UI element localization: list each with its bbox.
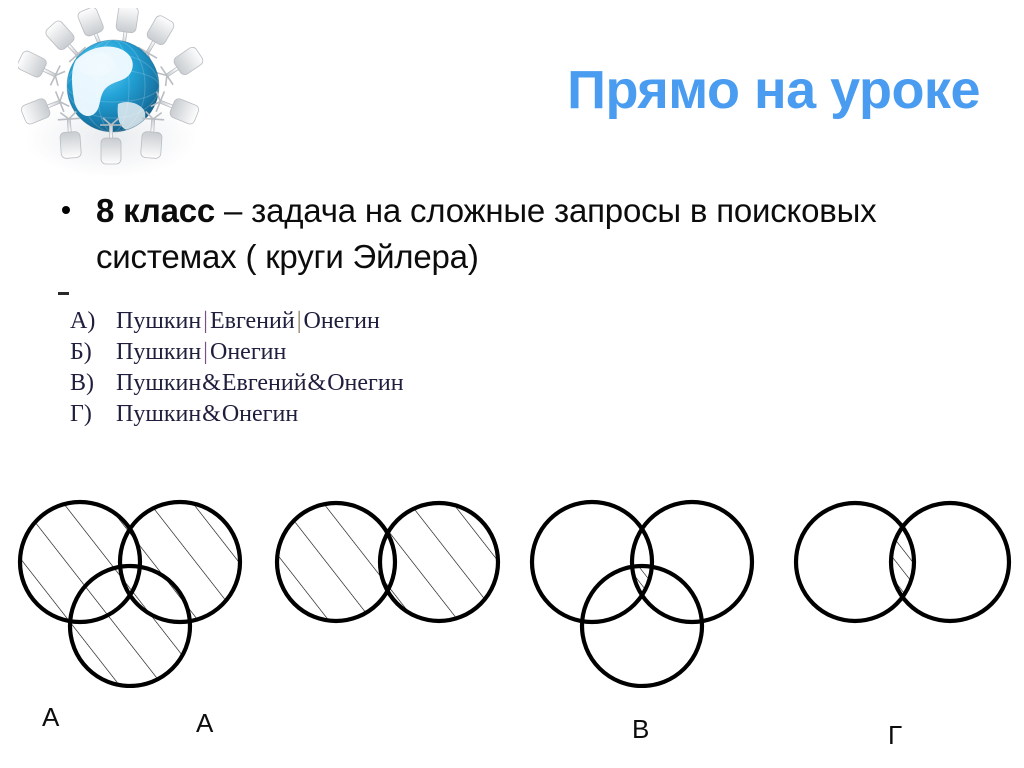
bullet-text: 8 класс – задача на сложные запросы в по… (96, 188, 956, 280)
venn-diagram-pair-intersection (772, 488, 1022, 688)
option-b-term-2: Онегин (210, 339, 286, 365)
venn-label-2: А (196, 708, 213, 739)
page-title: Прямо на уроке (420, 60, 980, 120)
bullet-strong-text: 8 класс (96, 192, 215, 229)
option-a-separator-2: | (295, 308, 304, 334)
query-options-list: А)Пушкин|Евгений|Онегин Б)Пушкин|Онегин … (70, 306, 590, 430)
venn-label-1: А (42, 702, 59, 733)
option-letter-a: А) (70, 306, 116, 337)
option-b-term-1: Пушкин (116, 339, 201, 365)
option-letter-g: Г) (70, 399, 116, 430)
option-g-term-1: Пушкин (116, 401, 201, 427)
stray-dash-mark (58, 292, 69, 295)
option-row-b: Б)Пушкин|Онегин (70, 337, 590, 368)
option-a-term-1: Пушкин (116, 308, 201, 334)
option-row-g: Г)Пушкин&Онегин (70, 399, 590, 430)
option-v-term-1: Пушкин (116, 370, 201, 396)
venn-label-3: В (632, 714, 649, 745)
venn-diagram-union-two (268, 488, 518, 688)
venn-circles (532, 502, 752, 686)
option-g-separator-1: & (201, 401, 222, 427)
option-v-term-3: Онегин (327, 370, 403, 396)
option-letter-b: Б) (70, 337, 116, 368)
bullet-marker-dot (62, 206, 70, 214)
option-a-term-3: Онегин (304, 308, 380, 334)
option-a-separator-1: | (201, 308, 210, 334)
option-row-a: А)Пушкин|Евгений|Онегин (70, 306, 590, 337)
option-a-term-2: Евгений (210, 308, 295, 334)
venn-diagram-triple-intersection (520, 488, 770, 688)
option-v-separator-2: & (307, 370, 328, 396)
venn-label-4: Г (888, 720, 902, 751)
option-row-v: В)Пушкин&Евгений&Онегин (70, 368, 590, 399)
option-letter-v: В) (70, 368, 116, 399)
option-v-separator-1: & (201, 370, 222, 396)
presentation-slide: Прямо на уроке 8 класс – задача на сложн… (0, 0, 1024, 768)
globe-with-chairs-illustration (18, 8, 204, 184)
option-v-term-2: Евгений (222, 370, 307, 396)
option-b-separator-1: | (201, 339, 210, 365)
option-g-term-2: Онегин (222, 401, 298, 427)
venn-diagram-union-three (8, 488, 258, 688)
